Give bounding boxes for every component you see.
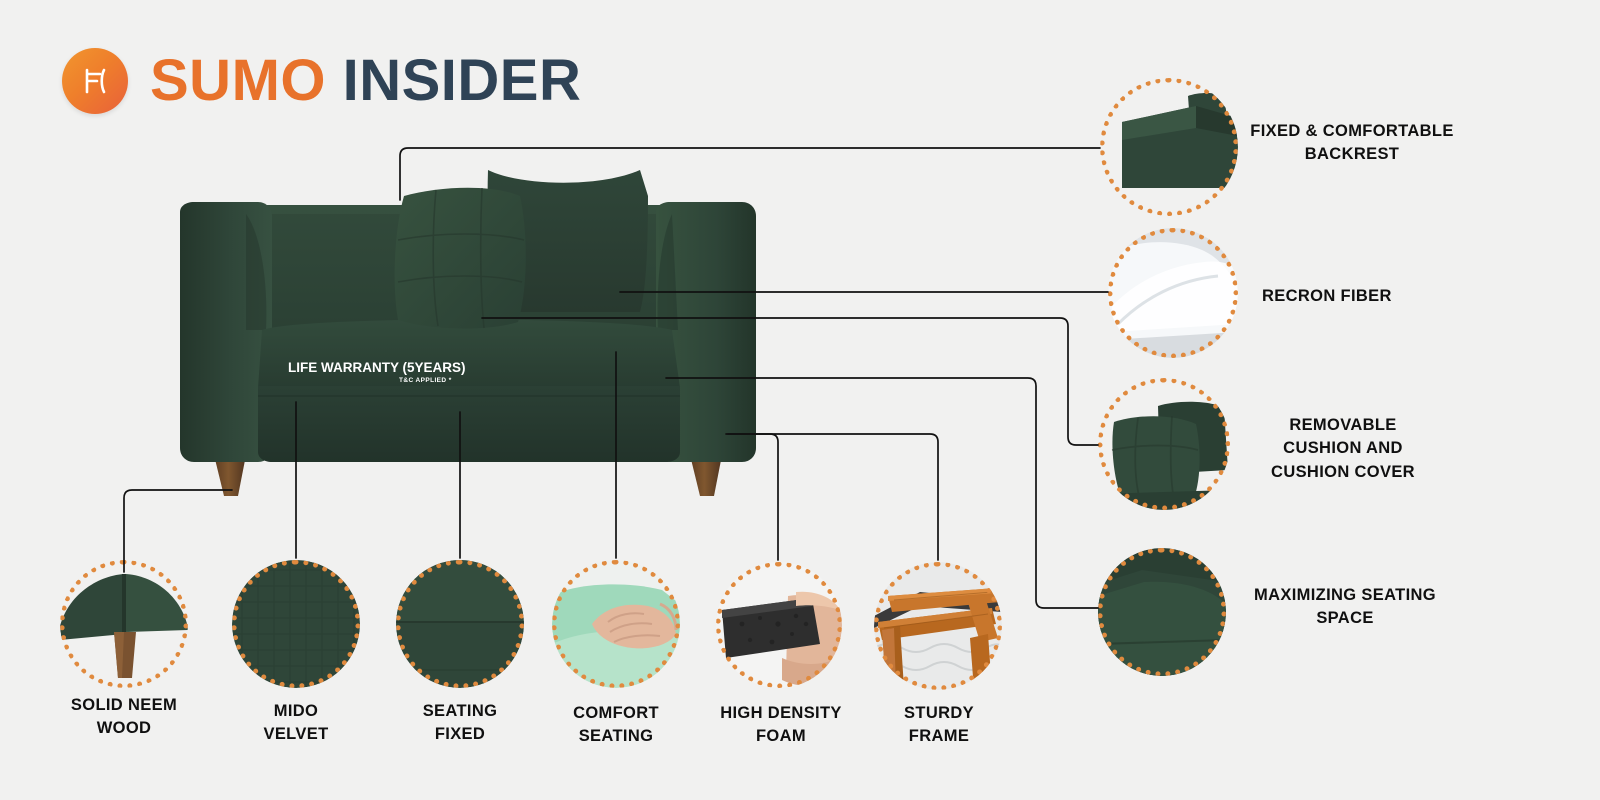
- tufted-cushion: [395, 188, 526, 329]
- seat-cushion: [258, 320, 680, 389]
- sofa-illustration: LIFE WARRANTY (5YEARS) T&C APPLIED *: [0, 0, 1600, 800]
- infographic-canvas: SUMO INSIDER: [0, 0, 1600, 800]
- sofa-base: [258, 386, 680, 462]
- warranty-subtitle: T&C APPLIED *: [399, 377, 452, 384]
- warranty-title: LIFE WARRANTY (5YEARS): [288, 360, 466, 375]
